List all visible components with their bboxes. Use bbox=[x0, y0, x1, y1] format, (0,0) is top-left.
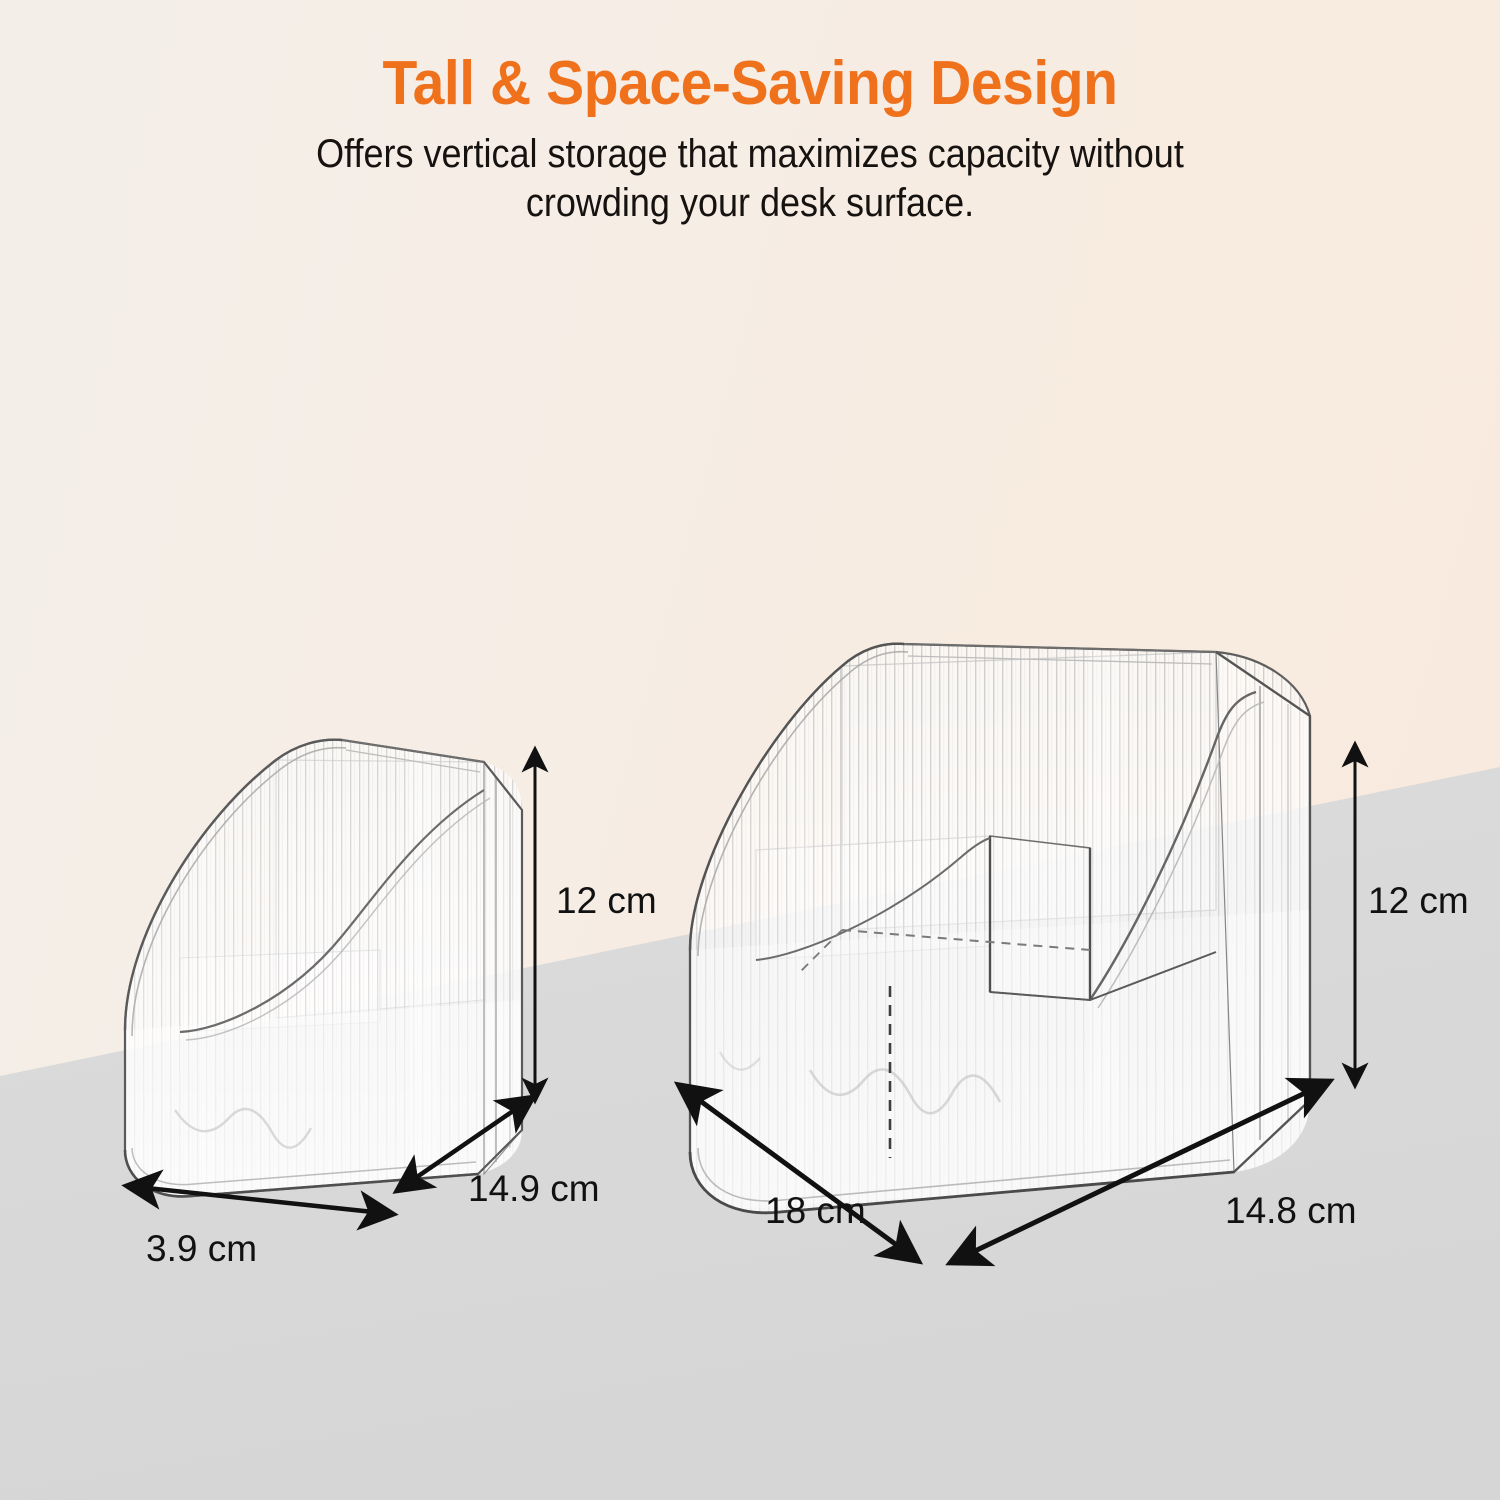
page-title: Tall & Space-Saving Design bbox=[60, 0, 1440, 116]
narrow-depth-label: 14.9 cm bbox=[468, 1168, 600, 1210]
width-arrow bbox=[128, 1186, 392, 1214]
narrow-organizer-dimension-arrows bbox=[80, 690, 640, 1310]
wide-depth-label: 14.8 cm bbox=[1225, 1190, 1357, 1232]
infographic-canvas: Tall & Space-Saving Design Offers vertic… bbox=[0, 0, 1500, 1500]
width-arrow bbox=[680, 1086, 917, 1260]
page-subtitle: Offers vertical storage that maximizes c… bbox=[264, 130, 1236, 228]
wide-width-label: 18 cm bbox=[765, 1190, 866, 1232]
narrow-height-label: 12 cm bbox=[556, 880, 657, 922]
narrow-width-label: 3.9 cm bbox=[146, 1228, 257, 1270]
depth-arrow bbox=[952, 1082, 1328, 1262]
wide-height-label: 12 cm bbox=[1368, 880, 1469, 922]
header-block: Tall & Space-Saving Design Offers vertic… bbox=[0, 0, 1500, 228]
